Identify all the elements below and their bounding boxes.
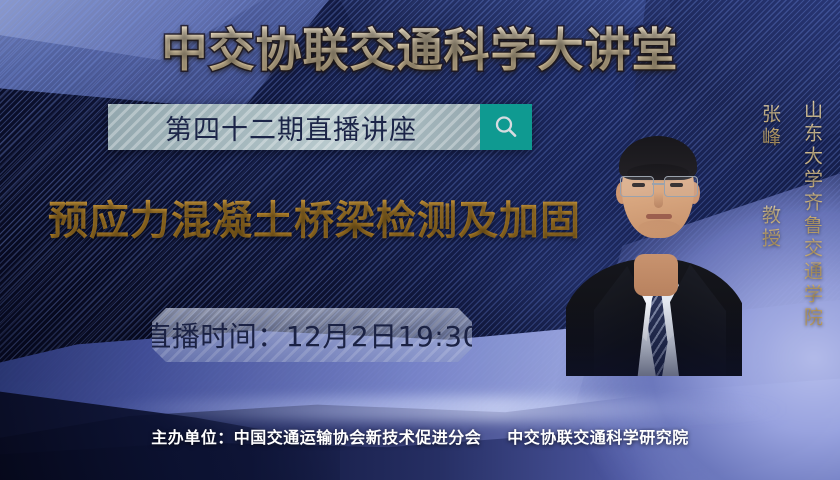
subtitle-bar[interactable]: 第四十二期直播讲座 bbox=[108, 104, 532, 150]
broadcast-time-pill: 直播时间：12月2日19:30 bbox=[152, 308, 472, 362]
search-icon bbox=[493, 114, 519, 140]
subtitle-label: 第四十二期直播讲座 bbox=[165, 108, 423, 147]
portrait-chin-shadow bbox=[638, 220, 680, 236]
broadcast-time-text: 直播时间：12月2日19:30 bbox=[152, 315, 472, 355]
speaker-title: 教授 bbox=[757, 205, 784, 251]
footer-organizer-2: 中交协联交通科学研究院 bbox=[507, 428, 689, 447]
subtitle-bar-body: 第四十二期直播讲座 bbox=[108, 104, 480, 150]
lecture-headline: 预应力混凝土桥梁检测及加固 bbox=[48, 188, 581, 246]
portrait-nose bbox=[654, 192, 663, 208]
footer-organizer-1: 中国交通运输协会新技术促进分会 bbox=[234, 428, 482, 447]
footer-organizer-label: 主办单位： bbox=[151, 428, 234, 447]
portrait-glasses-bridge bbox=[652, 183, 664, 185]
search-icon-box[interactable] bbox=[480, 104, 532, 150]
main-title: 中交协联交通科学大讲堂 bbox=[0, 14, 840, 80]
speaker-portrait bbox=[566, 108, 742, 376]
speaker-name: 张峰 bbox=[757, 104, 784, 150]
live-lecture-poster: 中交协联交通科学大讲堂 中交协联交通科学大讲堂 第四十二期直播讲座 预应力混凝土… bbox=[0, 0, 840, 480]
footer-organizers: 主办单位：中国交通运输协会新技术促进分会中交协联交通科学研究院 bbox=[0, 424, 840, 448]
portrait-neck bbox=[634, 254, 678, 296]
speaker-affiliation: 山东大学齐鲁交通学院 bbox=[799, 100, 826, 330]
portrait-lens-right bbox=[664, 176, 698, 197]
portrait-lens-left bbox=[620, 176, 654, 197]
portrait-mouth bbox=[646, 214, 672, 219]
